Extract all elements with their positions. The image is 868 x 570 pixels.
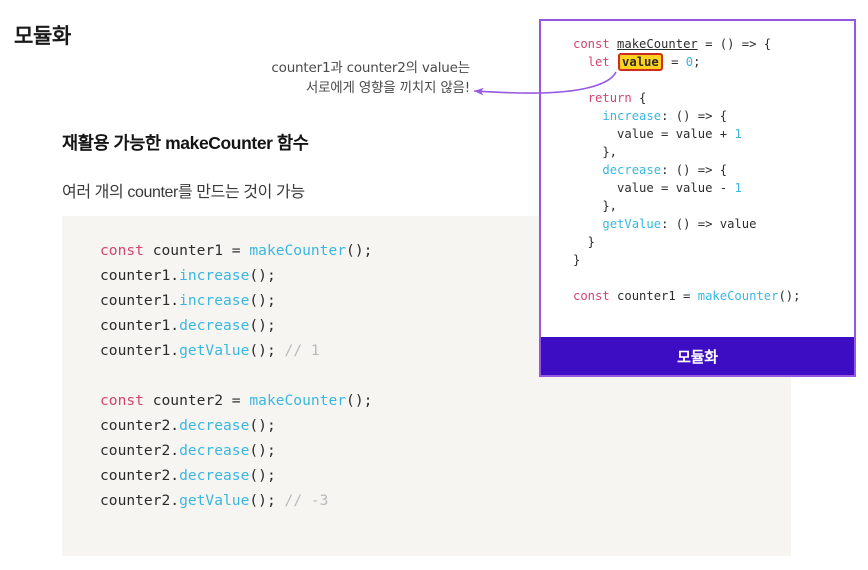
module-panel: const makeCounter = () => { let value = … bbox=[539, 19, 856, 377]
panel-footer-label: 모듈화 bbox=[541, 337, 854, 375]
code-line: const makeCounter = () => { bbox=[573, 35, 854, 53]
code-token: (); bbox=[249, 442, 275, 459]
code-token: counter2. bbox=[100, 467, 179, 484]
code-line bbox=[573, 269, 854, 287]
page-title: 모듈화 bbox=[14, 20, 71, 50]
code-line: const counter2 = makeCounter(); bbox=[100, 388, 791, 413]
code-token: = () => { bbox=[698, 37, 771, 51]
code-token: 0 bbox=[686, 55, 693, 69]
code-line: } bbox=[573, 233, 854, 251]
code-token: getValue bbox=[602, 217, 661, 231]
panel-code-container: const makeCounter = () => { let value = … bbox=[573, 35, 854, 305]
code-token: counter1 = bbox=[144, 242, 249, 259]
code-token: value = value - bbox=[573, 181, 734, 195]
code-token: const bbox=[100, 242, 144, 259]
code-token bbox=[573, 91, 588, 105]
code-token: makeCounter bbox=[617, 37, 698, 51]
code-token: { bbox=[632, 91, 647, 105]
code-token: getValue bbox=[179, 492, 249, 509]
code-token: (); bbox=[249, 292, 275, 309]
code-line: const counter1 = makeCounter(); bbox=[573, 287, 854, 305]
code-token bbox=[573, 55, 588, 69]
code-token: counter1 = bbox=[610, 289, 698, 303]
code-token: counter1. bbox=[100, 342, 179, 359]
annotation-line-1: counter1과 counter2의 value는 bbox=[190, 58, 470, 78]
annotation-note: counter1과 counter2의 value는 서로에게 영향을 끼치지 … bbox=[190, 58, 470, 98]
code-token: makeCounter bbox=[249, 392, 346, 409]
code-token: : () => { bbox=[661, 109, 727, 123]
code-token: return bbox=[588, 91, 632, 105]
annotation-line-2: 서로에게 영향을 끼치지 않음! bbox=[190, 78, 470, 98]
code-token: let bbox=[588, 55, 610, 69]
code-token: (); bbox=[346, 242, 372, 259]
code-token: (); bbox=[778, 289, 800, 303]
code-line: increase: () => { bbox=[573, 107, 854, 125]
code-token: decrease bbox=[179, 417, 249, 434]
code-line: value = value - 1 bbox=[573, 179, 854, 197]
code-token bbox=[610, 37, 617, 51]
code-line: }, bbox=[573, 197, 854, 215]
code-token: (); bbox=[249, 342, 284, 359]
code-line: }, bbox=[573, 143, 854, 161]
code-token: } bbox=[573, 253, 580, 267]
code-token: (); bbox=[249, 417, 275, 434]
code-token: (); bbox=[249, 467, 275, 484]
code-token: counter2 = bbox=[144, 392, 249, 409]
code-line: counter2.getValue(); // -3 bbox=[100, 488, 791, 513]
code-token: makeCounter bbox=[249, 242, 346, 259]
code-token: getValue bbox=[179, 342, 249, 359]
code-token: (); bbox=[249, 267, 275, 284]
code-token: ; bbox=[693, 55, 700, 69]
code-token: increase bbox=[602, 109, 661, 123]
code-line: return { bbox=[573, 89, 854, 107]
code-token: counter2. bbox=[100, 417, 179, 434]
code-line: } bbox=[573, 251, 854, 269]
code-token: counter2. bbox=[100, 492, 179, 509]
code-token: 1 bbox=[734, 127, 741, 141]
code-line: counter2.decrease(); bbox=[100, 463, 791, 488]
code-token: counter2. bbox=[100, 442, 179, 459]
code-token: decrease bbox=[602, 163, 661, 177]
code-token: = bbox=[664, 55, 686, 69]
code-token: decrease bbox=[179, 317, 249, 334]
code-line: counter2.decrease(); bbox=[100, 438, 791, 463]
code-token: } bbox=[573, 235, 595, 249]
code-token: // 1 bbox=[285, 342, 320, 359]
code-line: let value = 0; bbox=[573, 53, 854, 71]
code-line: value = value + 1 bbox=[573, 125, 854, 143]
code-token: decrease bbox=[179, 442, 249, 459]
code-token: counter1. bbox=[100, 267, 179, 284]
code-token: // -3 bbox=[285, 492, 329, 509]
code-token: decrease bbox=[179, 467, 249, 484]
code-token: increase bbox=[179, 267, 249, 284]
code-token: counter1. bbox=[100, 317, 179, 334]
code-token: }, bbox=[573, 199, 617, 213]
code-token: (); bbox=[249, 492, 284, 509]
code-token bbox=[573, 163, 602, 177]
code-token: makeCounter bbox=[698, 289, 779, 303]
code-token: value = value + bbox=[573, 127, 734, 141]
code-line: decrease: () => { bbox=[573, 161, 854, 179]
section-body-text: 여러 개의 counter를 만드는 것이 가능 bbox=[62, 178, 305, 202]
code-token: 1 bbox=[734, 181, 741, 195]
code-token: const bbox=[573, 37, 610, 51]
code-token: : () => value bbox=[661, 217, 756, 231]
code-line: counter2.decrease(); bbox=[100, 413, 791, 438]
code-token bbox=[573, 217, 602, 231]
code-token: (); bbox=[346, 392, 372, 409]
code-line bbox=[573, 71, 854, 89]
code-token: counter1. bbox=[100, 292, 179, 309]
code-token bbox=[610, 55, 617, 69]
code-token: const bbox=[100, 392, 144, 409]
code-token: increase bbox=[179, 292, 249, 309]
section-heading: 재활용 가능한 makeCounter 함수 bbox=[62, 130, 308, 155]
code-token: const bbox=[573, 289, 610, 303]
code-token: : () => { bbox=[661, 163, 727, 177]
highlighted-token: value bbox=[618, 53, 663, 71]
code-token: (); bbox=[249, 317, 275, 334]
code-token: }, bbox=[573, 145, 617, 159]
code-line: getValue: () => value bbox=[573, 215, 854, 233]
code-token bbox=[573, 109, 602, 123]
